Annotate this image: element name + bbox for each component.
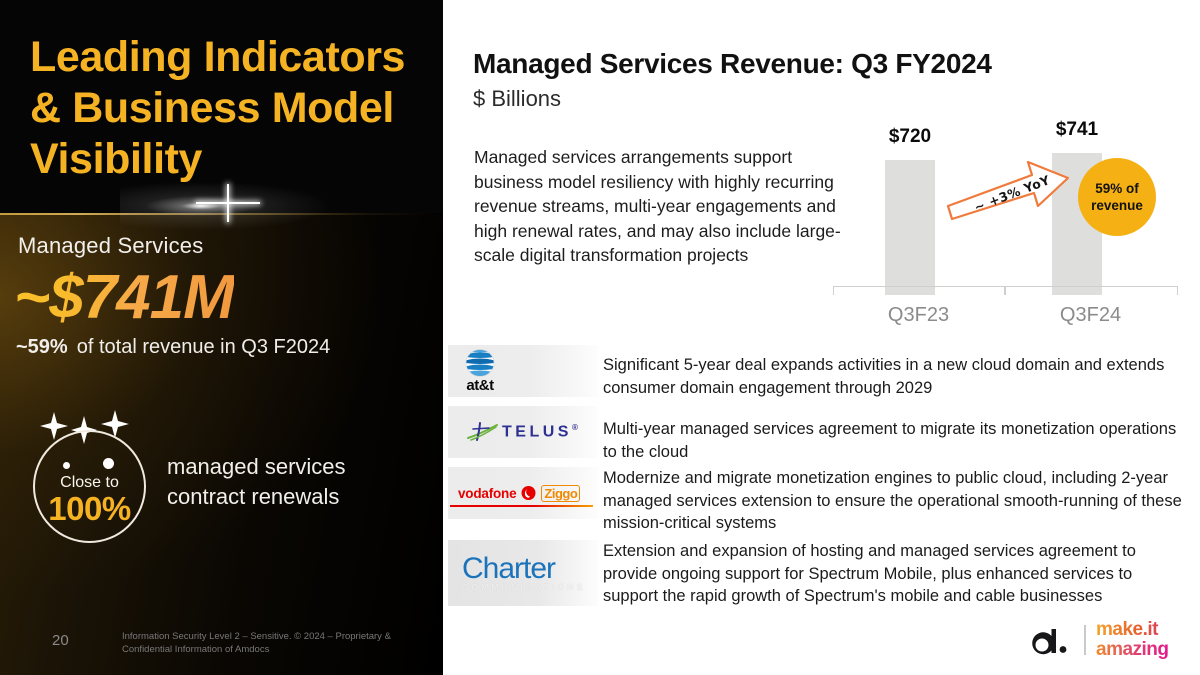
chart-axis <box>833 286 1178 295</box>
bar-value-q3f23: $720 <box>865 126 955 148</box>
bar-value-q3f24: $741 <box>1032 119 1122 141</box>
amdocs-logo: make.it amazing <box>1028 620 1169 660</box>
vodafone-ziggo-logo-cell: vodafone Ziggo <box>448 467 598 519</box>
gold-divider <box>0 213 443 215</box>
category-label-q3f24: Q3F24 <box>1005 304 1176 327</box>
att-logo-cell: at&t <box>448 345 598 397</box>
ring-dot-large-icon <box>103 458 114 469</box>
page-number: 20 <box>52 632 69 649</box>
amdocs-divider <box>1084 625 1086 655</box>
deal-row-att: at&t Significant 5-year deal expands act… <box>443 345 1200 397</box>
amdocs-tagline-line2: amazing <box>1096 640 1169 660</box>
vodafone-wordmark: vodafone <box>458 486 516 501</box>
legal-notice: Information Security Level 2 – Sensitive… <box>122 630 412 656</box>
badge-line-2: revenue <box>1091 197 1143 214</box>
chart-title: Managed Services Revenue: Q3 FY2024 <box>473 48 992 80</box>
badge-line-1: 59% of <box>1091 180 1143 197</box>
renewals-badge: Close to 100% <box>33 430 148 545</box>
slide: Leading Indicators & Business Model Visi… <box>0 0 1200 675</box>
revenue-share-badge-text: 59% of revenue <box>1091 180 1143 214</box>
renewals-description: managed services contract renewals <box>167 452 346 512</box>
managed-services-value: ~$741M <box>14 262 234 333</box>
renewals-badge-value: 100% <box>33 490 146 528</box>
telus-logo: TELUS® <box>466 420 578 444</box>
vodafone-ziggo-underline <box>450 505 593 507</box>
category-label-q3f23: Q3F23 <box>833 304 1004 327</box>
amdocs-a-mark-icon <box>1028 623 1074 657</box>
telus-logo-text: TELUS® <box>502 423 578 441</box>
revenue-share-text: of total revenue in Q3 F2024 <box>77 336 331 358</box>
left-panel: Leading Indicators & Business Model Visi… <box>0 0 443 675</box>
renewals-description-line2: contract renewals <box>167 482 346 512</box>
vodafone-ziggo-logo: vodafone Ziggo <box>458 485 596 502</box>
managed-services-kicker: Managed Services <box>18 233 203 259</box>
deal-text-att: Significant 5-year deal expands activiti… <box>603 354 1183 399</box>
ring-dot-small-icon <box>63 462 70 469</box>
att-globe-icon <box>462 348 498 378</box>
charter-logo-cell: Charter COMMUNICATIONS <box>448 540 598 606</box>
renewals-description-line1: managed services <box>167 452 346 482</box>
vodafone-speechmark-icon <box>521 485 536 501</box>
yoy-arrow-annotation: ~ +3% YoY <box>944 148 1074 226</box>
deal-text-charter: Extension and expansion of hosting and m… <box>603 540 1183 608</box>
deal-row-telus: TELUS® Multi-year managed services agree… <box>443 406 1200 458</box>
amdocs-tagline: make.it amazing <box>1096 620 1169 660</box>
att-logo: at&t <box>462 348 498 394</box>
deal-row-vodafone-ziggo: vodafone Ziggo Modernize and migrate mon… <box>443 467 1200 519</box>
vodafone-ziggo-logo-row: vodafone Ziggo <box>458 485 596 502</box>
bar-q3f23 <box>885 160 935 295</box>
telus-wordmark: TELUS <box>502 423 572 440</box>
deal-text-vodafone-ziggo: Modernize and migrate monetization engin… <box>603 467 1183 535</box>
deal-text-telus: Multi-year managed services agreement to… <box>603 418 1183 463</box>
ziggo-wordmark: Ziggo <box>541 485 580 502</box>
chart-subtitle: $ Billions <box>473 86 561 112</box>
amdocs-tagline-line1: make.it <box>1096 620 1169 640</box>
body-copy: Managed services arrangements support bu… <box>474 145 846 268</box>
telus-logo-cell: TELUS® <box>448 406 598 458</box>
charter-subwordmark: COMMUNICATIONS <box>462 582 586 592</box>
deal-row-charter: Charter COMMUNICATIONS Extension and exp… <box>443 540 1200 606</box>
chart-axis-tick-middle <box>1004 286 1006 295</box>
att-logo-text: at&t <box>466 377 493 394</box>
revenue-share-line: ~59%of total revenue in Q3 F2024 <box>16 336 330 359</box>
charter-logo: Charter COMMUNICATIONS <box>462 554 586 592</box>
bar-chart: $720 $741 ~ +3% YoY 59% of revenue Q3F23… <box>833 118 1178 333</box>
revenue-share-badge: 59% of revenue <box>1078 158 1156 236</box>
telus-swoosh-icon <box>466 420 500 444</box>
charter-wordmark: Charter <box>462 554 586 584</box>
page-title: Leading Indicators & Business Model Visi… <box>30 32 430 185</box>
revenue-share-percent: ~59% <box>16 336 68 358</box>
